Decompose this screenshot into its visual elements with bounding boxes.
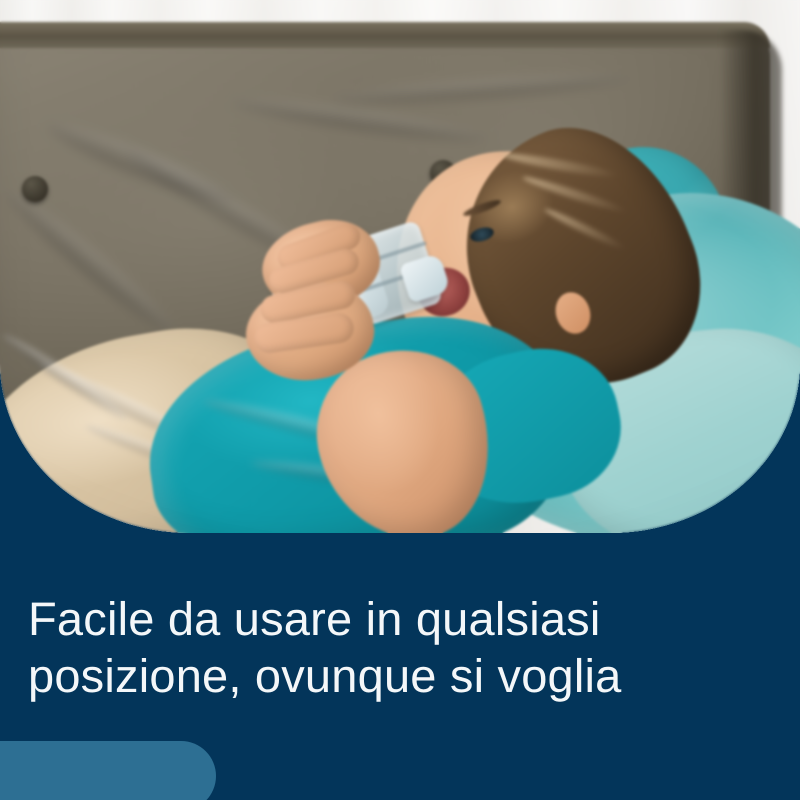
bottom-left-accent-shape — [0, 741, 216, 800]
couch-top-piping — [0, 22, 770, 48]
promo-card: Facile da usare in qualsiasi posizione, … — [0, 0, 800, 800]
caption-text: Facile da usare in qualsiasi posizione, … — [28, 590, 748, 704]
couch-button-tuft — [22, 176, 48, 202]
hero-photo — [0, 0, 800, 533]
photo-illustration — [0, 0, 800, 533]
